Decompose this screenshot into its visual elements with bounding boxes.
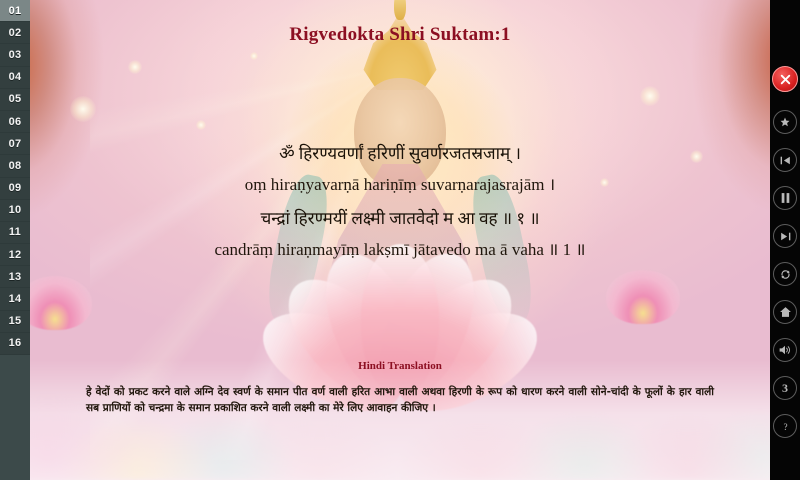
sidebar-item-02[interactable]: 02 (0, 22, 30, 44)
close-button[interactable] (772, 66, 798, 92)
sidebar-item-08[interactable]: 08 (0, 155, 30, 177)
favorite-button[interactable] (773, 110, 797, 134)
sidebar-item-14[interactable]: 14 (0, 288, 30, 310)
repeat-button[interactable] (773, 262, 797, 286)
volume-icon (778, 344, 792, 356)
sidebar-item-label: 11 (9, 226, 21, 238)
pause-button[interactable] (773, 186, 797, 210)
sidebar-item-label: 06 (9, 116, 22, 128)
repeat-count-button[interactable]: 3 (773, 376, 797, 400)
pause-icon (780, 192, 791, 204)
sidebar-item-label: 04 (9, 71, 22, 83)
app-window: 01 02 03 04 05 06 07 08 09 10 11 12 13 1… (0, 0, 800, 480)
sidebar-item-15[interactable]: 15 (0, 311, 30, 333)
next-track-icon (779, 231, 792, 242)
svg-text:?: ? (783, 421, 787, 431)
sidebar-item-label: 08 (9, 160, 22, 172)
previous-track-icon (779, 155, 792, 166)
sidebar-item-05[interactable]: 05 (0, 89, 30, 111)
home-button[interactable] (773, 300, 797, 324)
sidebar-item-label: 14 (9, 293, 22, 305)
transliteration-line-1: oṃ hiraṇyavarṇā hariṇīṃ suvarṇarajasrajā… (30, 173, 770, 198)
help-button[interactable]: ? (773, 414, 797, 438)
translation-heading: Hindi Translation (30, 360, 770, 372)
devanagari-line-1: ॐ हिरण्यवर्णां हरिणीं सुवर्णरजतस्रजाम् । (30, 142, 770, 167)
home-icon (779, 306, 792, 318)
help-icon: ? (779, 420, 792, 433)
sidebar-item-label: 01 (9, 5, 22, 17)
translation-body: हे वेदों को प्रकट करने वाले अग्नि देव स्… (86, 384, 714, 417)
sidebar-item-13[interactable]: 13 (0, 266, 30, 288)
verse-index-sidebar[interactable]: 01 02 03 04 05 06 07 08 09 10 11 12 13 1… (0, 0, 30, 480)
player-toolbar: 3 ? (770, 0, 800, 480)
page-title: Rigvedokta Shri Suktam:1 (30, 24, 770, 46)
sidebar-item-label: 15 (9, 315, 22, 327)
sidebar-item-10[interactable]: 10 (0, 200, 30, 222)
sidebar-item-label: 03 (9, 49, 22, 61)
sidebar-item-label: 02 (9, 27, 22, 39)
sidebar-item-12[interactable]: 12 (0, 244, 30, 266)
sidebar-item-01[interactable]: 01 (0, 0, 30, 22)
sidebar-item-09[interactable]: 09 (0, 178, 30, 200)
sidebar-item-label: 10 (9, 204, 22, 216)
repeat-icon (779, 268, 792, 281)
transliteration-line-2: candrāṃ hiraṇmayīṃ lakṣmī jātavedo ma ā … (30, 238, 770, 263)
sidebar-item-label: 13 (9, 271, 22, 283)
devanagari-line-2: चन्द्रां हिरण्मयीं लक्ष्मी जातवेदो म आ व… (30, 207, 770, 232)
sidebar-item-label: 09 (9, 182, 22, 194)
star-settings-icon (779, 116, 791, 128)
sidebar-item-16[interactable]: 16 (0, 333, 30, 355)
repeat-count-label: 3 (782, 381, 788, 396)
sidebar-item-06[interactable]: 06 (0, 111, 30, 133)
sidebar-item-label: 16 (9, 337, 22, 349)
sidebar-item-03[interactable]: 03 (0, 44, 30, 66)
volume-button[interactable] (773, 338, 797, 362)
close-icon (779, 73, 792, 86)
verse-block: ॐ हिरण्यवर्णां हरिणीं सुवर्णरजतस्रजाम् ।… (30, 142, 770, 273)
sidebar-item-label: 05 (9, 93, 22, 105)
sidebar-item-04[interactable]: 04 (0, 67, 30, 89)
next-button[interactable] (773, 224, 797, 248)
sidebar-item-label: 12 (9, 249, 22, 261)
sidebar-item-07[interactable]: 07 (0, 133, 30, 155)
sidebar-item-11[interactable]: 11 (0, 222, 30, 244)
verse-content: Rigvedokta Shri Suktam:1 ॐ हिरण्यवर्णां … (30, 0, 770, 480)
sidebar-item-label: 07 (9, 138, 22, 150)
previous-button[interactable] (773, 148, 797, 172)
